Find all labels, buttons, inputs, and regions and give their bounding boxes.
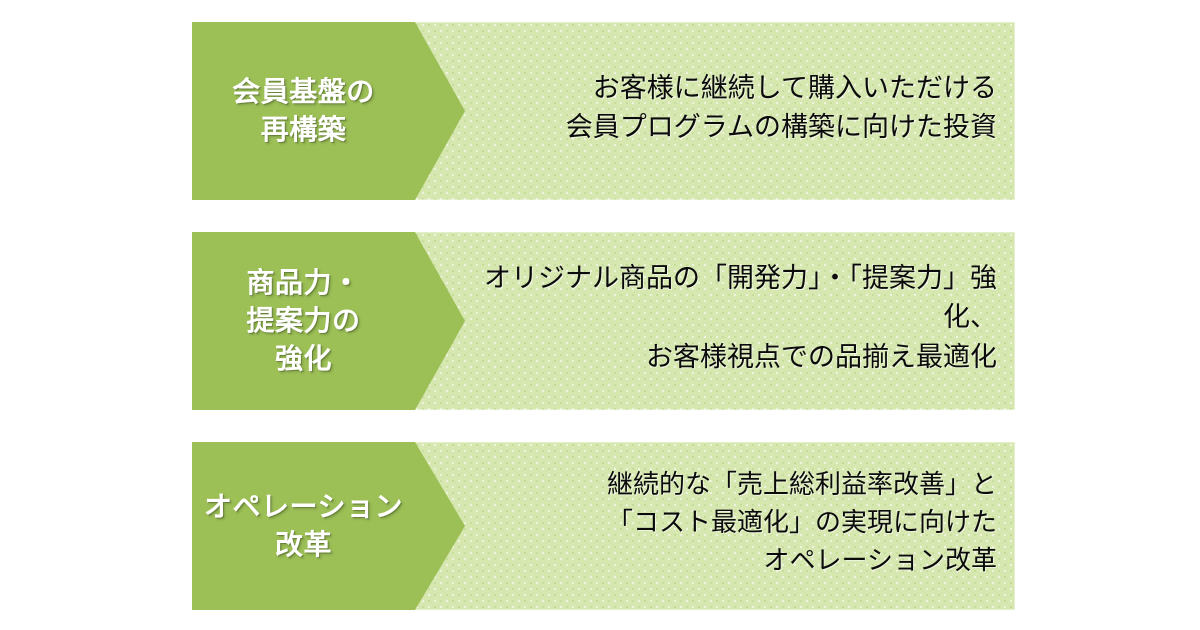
strategy-label-3: オペレーション 改革	[204, 488, 403, 564]
strategy-body-container-3: 継続的な「売上総利益率改善」と 「コスト最適化」の実現に向けた オペレーション改…	[465, 442, 1015, 610]
strategy-body-container-1: お客様に継続して購入いただける 会員プログラムの構築に向けた投資	[465, 22, 1015, 200]
strategy-label-1: 会員基盤の 再構築	[232, 73, 375, 149]
strategy-chevron-2: 商品力・ 提案力の 強化	[192, 232, 465, 410]
strategy-band-2: 商品力・ 提案力の 強化 オリジナル商品の「開発力」・「提案力」強化、 お客様視…	[192, 232, 1015, 410]
slide-canvas: 会員基盤の 再構築 お客様に継続して購入いただける 会員プログラムの構築に向けた…	[0, 0, 1200, 630]
strategy-band-1: 会員基盤の 再構築 お客様に継続して購入いただける 会員プログラムの構築に向けた…	[192, 22, 1015, 200]
strategy-description-1: お客様に継続して購入いただける 会員プログラムの構築に向けた投資	[566, 69, 997, 147]
strategy-band-3: オペレーション 改革 継続的な「売上総利益率改善」と 「コスト最適化」の実現に向…	[192, 442, 1015, 610]
strategy-description-2: オリジナル商品の「開発力」・「提案力」強化、 お客様視点での品揃え最適化	[465, 259, 997, 376]
strategy-body-container-2: オリジナル商品の「開発力」・「提案力」強化、 お客様視点での品揃え最適化	[465, 232, 1015, 410]
strategy-description-3: 継続的な「売上総利益率改善」と 「コスト最適化」の実現に向けた オペレーション改…	[607, 466, 997, 579]
strategy-chevron-1: 会員基盤の 再構築	[192, 22, 465, 200]
strategy-chevron-3: オペレーション 改革	[192, 442, 465, 610]
strategy-label-2: 商品力・ 提案力の 強化	[246, 264, 360, 377]
